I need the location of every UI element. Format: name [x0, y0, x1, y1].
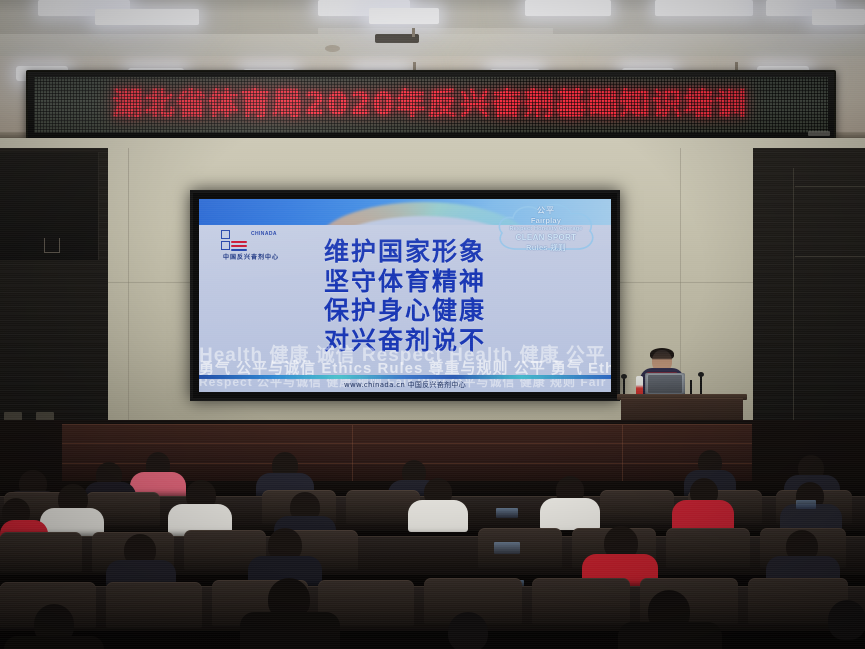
- audience-head: [448, 612, 488, 649]
- wall-seam: [128, 148, 129, 440]
- seat: [532, 578, 630, 624]
- seat: [666, 528, 750, 568]
- audience-head: [828, 600, 865, 640]
- cloud-line-1: 公平: [493, 207, 599, 215]
- device-screen-glow: [494, 542, 520, 554]
- led-banner-text: 湖北省体育局2020年反兴奋剂基础知识培训: [42, 90, 818, 120]
- led-banner-screen: 湖北省体育局2020年反兴奋剂基础知识培训: [34, 77, 828, 133]
- projection-screen: CHINADA 中国反兴奋剂中心 公平 Fairplay Respect Hon…: [199, 199, 611, 392]
- led-banner-corner-tag: [808, 131, 830, 136]
- microphone-head: [698, 372, 704, 377]
- ceiling-sensor: [412, 28, 415, 37]
- partition-groove: [622, 425, 623, 481]
- ceiling-smoke-detector: [325, 45, 340, 52]
- seat: [478, 528, 562, 568]
- partition-groove: [352, 425, 353, 481]
- headline-line-3: 保护身心健康: [199, 296, 611, 326]
- wall-panel-groove: [795, 186, 865, 187]
- speaker-bracket-icon: [44, 238, 60, 253]
- ceiling-light: [812, 9, 865, 25]
- seat: [600, 490, 674, 524]
- headline-line-1: 维护国家形象: [199, 237, 611, 267]
- wall-panel-right: [753, 148, 865, 440]
- audience-torso: [240, 612, 340, 649]
- wall-panel-groove: [795, 256, 865, 257]
- audience-torso: [618, 622, 722, 649]
- slide-footer-text: www.chinada.cn 中国反兴奋剂中心: [199, 379, 611, 391]
- wall-panel-texture: [753, 148, 865, 440]
- seat: [0, 532, 82, 572]
- cloud-line-3: Respect Honesty Courage: [493, 227, 599, 233]
- audience-torso: [408, 500, 468, 532]
- ceiling-light: [525, 0, 611, 16]
- cloud-line-2: Fairplay: [493, 217, 599, 225]
- slide-headline: 维护国家形象 坚守体育精神 保护身心健康 对兴奋剂说不: [199, 237, 611, 355]
- headline-line-2: 坚守体育精神: [199, 267, 611, 297]
- laptop-screen: [648, 375, 682, 393]
- device-screen-glow: [796, 500, 816, 509]
- audience-torso: [4, 636, 104, 649]
- led-banner: 湖北省体育局2020年反兴奋剂基础知识培训: [26, 70, 836, 140]
- microphone-head: [621, 374, 627, 379]
- device-screen-glow: [496, 508, 518, 518]
- ceiling-soffit: [0, 34, 865, 56]
- ceiling-light: [369, 8, 439, 24]
- partition-groove: [62, 443, 752, 444]
- audience-torso: [540, 498, 600, 530]
- conference-hall-photo: 湖北省体育局2020年反兴奋剂基础知识培训: [0, 0, 865, 649]
- seat: [106, 582, 202, 628]
- slide-wordcloud-band: Health 健康 诚信 Respect Health 健康 公平 Health…: [199, 340, 611, 392]
- projection-screen-frame: CHINADA 中国反兴奋剂中心 公平 Fairplay Respect Hon…: [190, 190, 620, 401]
- ceiling-light: [655, 0, 753, 16]
- ceiling-light: [95, 9, 199, 25]
- wall-panel-groove: [793, 168, 794, 440]
